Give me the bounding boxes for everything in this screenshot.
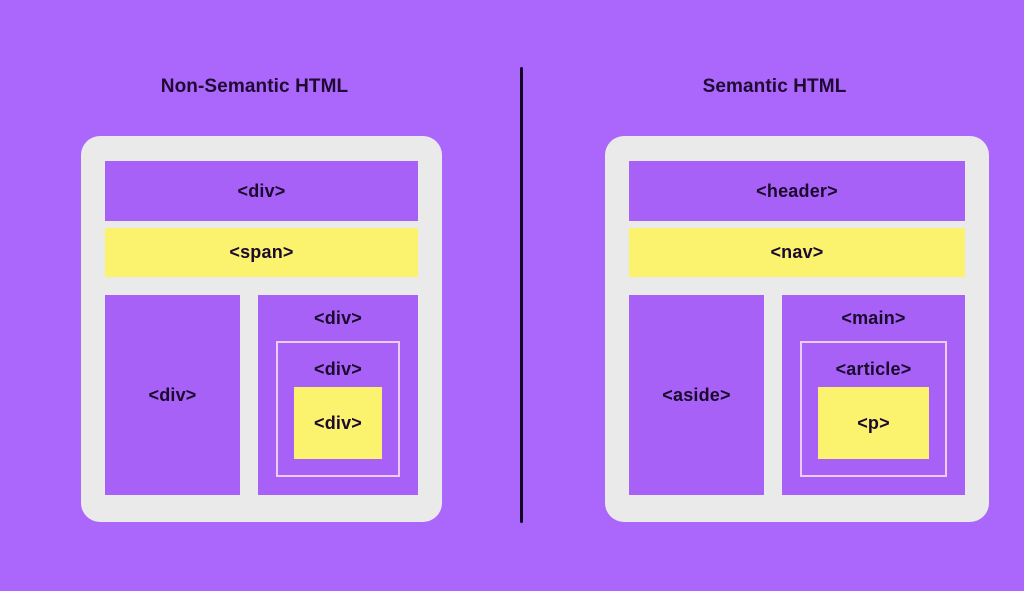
mockup-main-block-semantic: <main> <article> <p> [782, 295, 965, 495]
mockup-header-block-non-semantic: <div> [105, 161, 418, 221]
panel-title-semantic: Semantic HTML [523, 74, 1024, 100]
mockup-paragraph-block-non-semantic: <div> [294, 387, 382, 459]
mockup-sidebar-block-non-semantic: <div> [105, 295, 240, 495]
page-mockup-semantic: <header> <nav> <aside> <main> <article> … [605, 136, 989, 522]
mockup-nav-block-non-semantic: <span> [105, 228, 418, 277]
mockup-article-label-semantic: <article> [805, 346, 942, 380]
panel-title-non-semantic: Non-Semantic HTML [0, 74, 515, 100]
mockup-article-block-non-semantic: <div> <div> [278, 343, 398, 475]
mockup-aside-block-semantic: <aside> [629, 295, 764, 495]
mockup-article-frame-non-semantic: <div> <div> [276, 341, 400, 477]
panel-non-semantic: Non-Semantic HTML <div> <span> <div> <di… [0, 0, 521, 591]
mockup-nav-block-semantic: <nav> [629, 228, 965, 277]
mockup-paragraph-block-semantic: <p> [818, 387, 929, 459]
panel-semantic: Semantic HTML <header> <nav> <aside> <ma… [521, 0, 1024, 591]
mockup-article-frame-semantic: <article> <p> [800, 341, 947, 477]
mockup-article-label-non-semantic: <div> [281, 346, 395, 380]
mockup-article-block-semantic: <article> <p> [802, 343, 945, 475]
mockup-header-block-semantic: <header> [629, 161, 965, 221]
mockup-main-block-non-semantic: <div> <div> <div> [258, 295, 418, 495]
mockup-main-label-non-semantic: <div> [258, 295, 418, 329]
mockup-main-label-semantic: <main> [782, 295, 965, 329]
page-mockup-non-semantic: <div> <span> <div> <div> <div> <div> [81, 136, 442, 522]
